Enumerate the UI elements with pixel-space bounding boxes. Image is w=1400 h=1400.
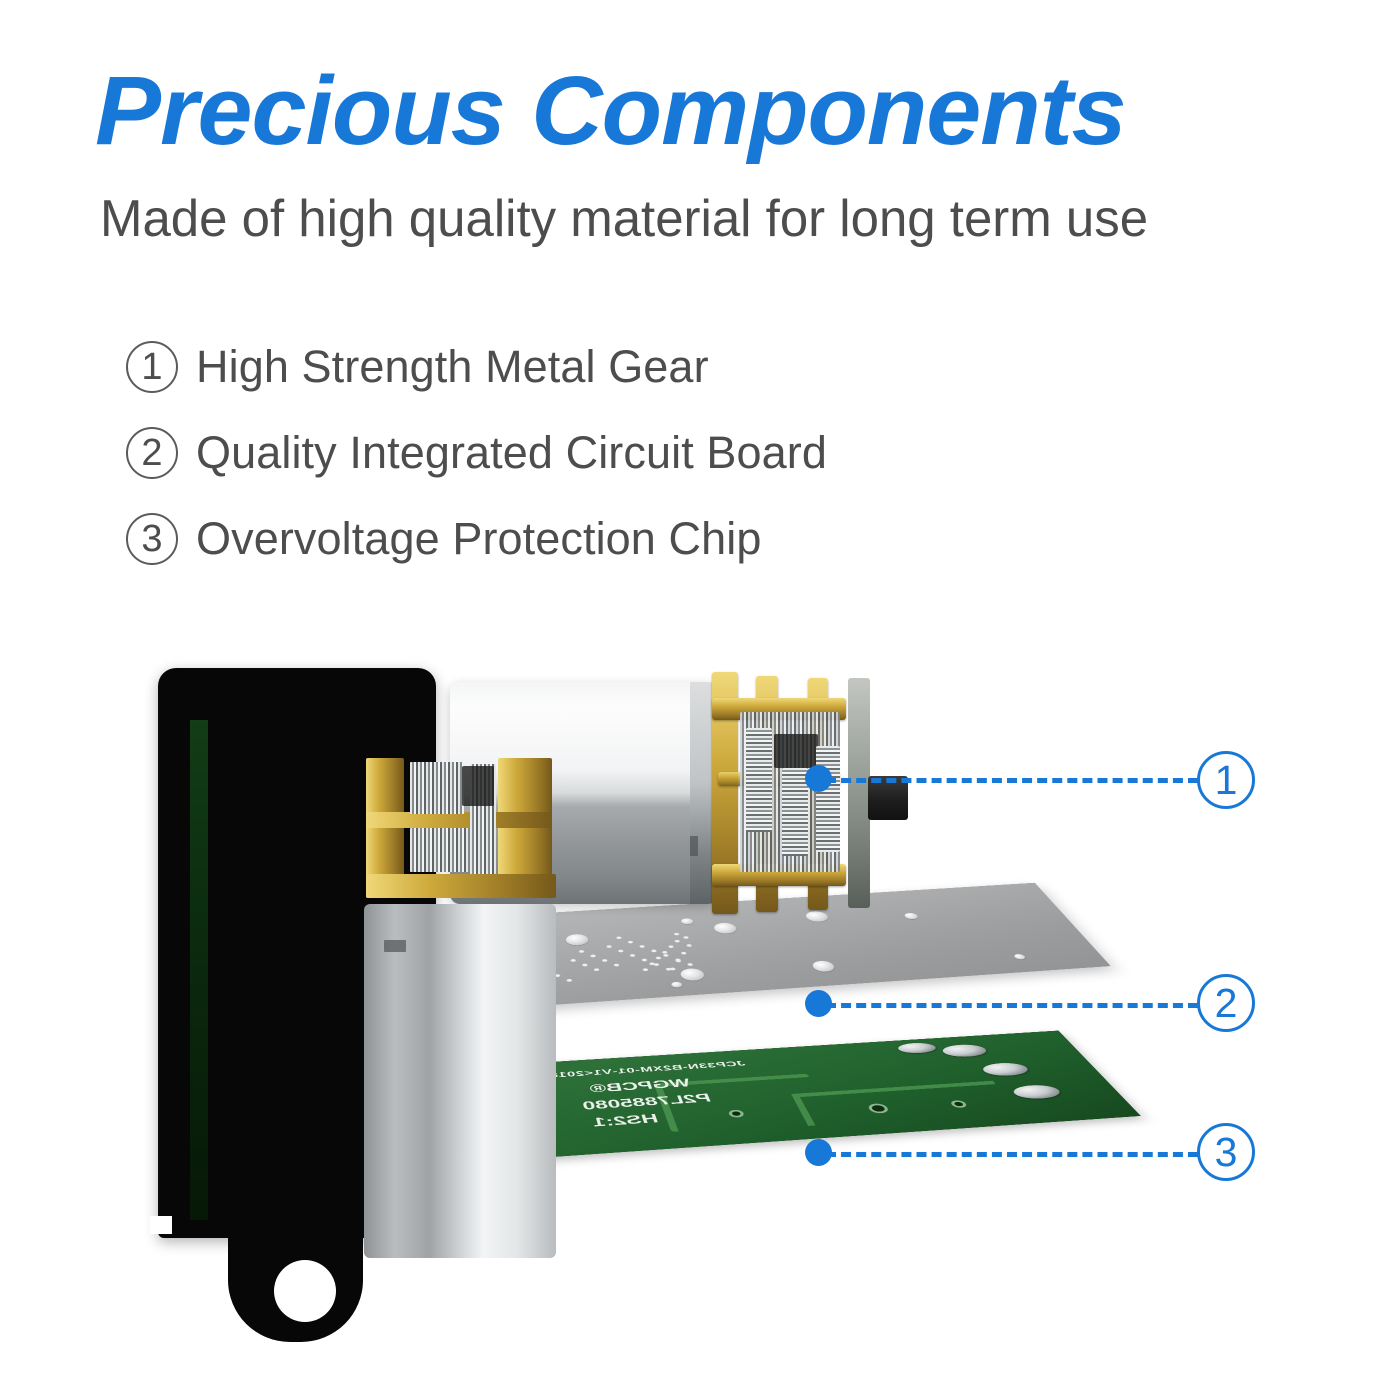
board-via [1013,954,1027,960]
black-battery-housing [158,668,436,1238]
solder-pad [979,1062,1033,1077]
silkscreen-code-right: HS2:1 [591,1111,660,1129]
inner-gear-teeth [410,828,472,872]
feature-item-2: 2 Quality Integrated Circuit Board [126,410,1026,496]
inner-gearbox-ring [366,812,552,828]
pcb-trace [791,1081,1018,1126]
inner-gear-teeth [410,762,464,814]
feature-list: 1 High Strength Metal Gear 2 Quality Int… [126,324,1026,582]
metal-gearbox [712,672,862,914]
callout-leader-line-3 [826,1152,1198,1157]
page-title: Precious Components [95,62,1350,159]
solder-pad [1009,1084,1065,1100]
feature-number-badge-2: 2 [126,427,178,479]
board-via [903,913,920,920]
callout-leader-line-2 [826,1003,1198,1008]
product-photo: JCP33N-B2XM-01-V1<201802> RoHS WGPCB® P2… [0,620,1400,1400]
feature-number-badge-1: 1 [126,341,178,393]
callout-leader-line-1 [826,778,1198,783]
gearbox-face-plate [848,678,870,908]
motor-marking [690,836,698,856]
callout-marker-3[interactable]: 3 [1197,1123,1255,1181]
page-subtitle: Made of high quality material for long t… [100,190,1305,248]
housing-inner-pcb-edge [190,720,208,1220]
solder-pad [895,1042,939,1054]
gear-band [782,768,808,856]
feature-number-badge-3: 3 [126,513,178,565]
inner-gear-shadow [462,766,494,806]
inner-gearbox-ring [366,874,556,898]
board-via [810,960,836,972]
inner-motor-body [364,904,556,1258]
callout-marker-1[interactable]: 1 [1197,751,1255,809]
board-via [670,982,683,988]
feature-label-3: Overvoltage Protection Chip [196,513,762,565]
feature-item-1: 1 High Strength Metal Gear [126,324,1026,410]
housing-notch [150,1216,172,1234]
feature-item-3: 3 Overvoltage Protection Chip [126,496,1026,582]
gear-band [746,728,772,832]
callout-marker-2[interactable]: 2 [1197,974,1255,1032]
feature-label-1: High Strength Metal Gear [196,341,709,393]
housing-inner-gearbox [366,754,556,902]
mounting-hole [274,1260,336,1322]
board-via [712,922,738,934]
solder-pad [939,1044,991,1058]
board-via [565,934,590,946]
board-via [680,918,694,924]
inner-motor-marking [384,940,406,952]
gear-shadow [774,734,818,768]
feature-label-2: Quality Integrated Circuit Board [196,427,827,479]
board-via [679,968,706,982]
gear-band [816,746,840,852]
